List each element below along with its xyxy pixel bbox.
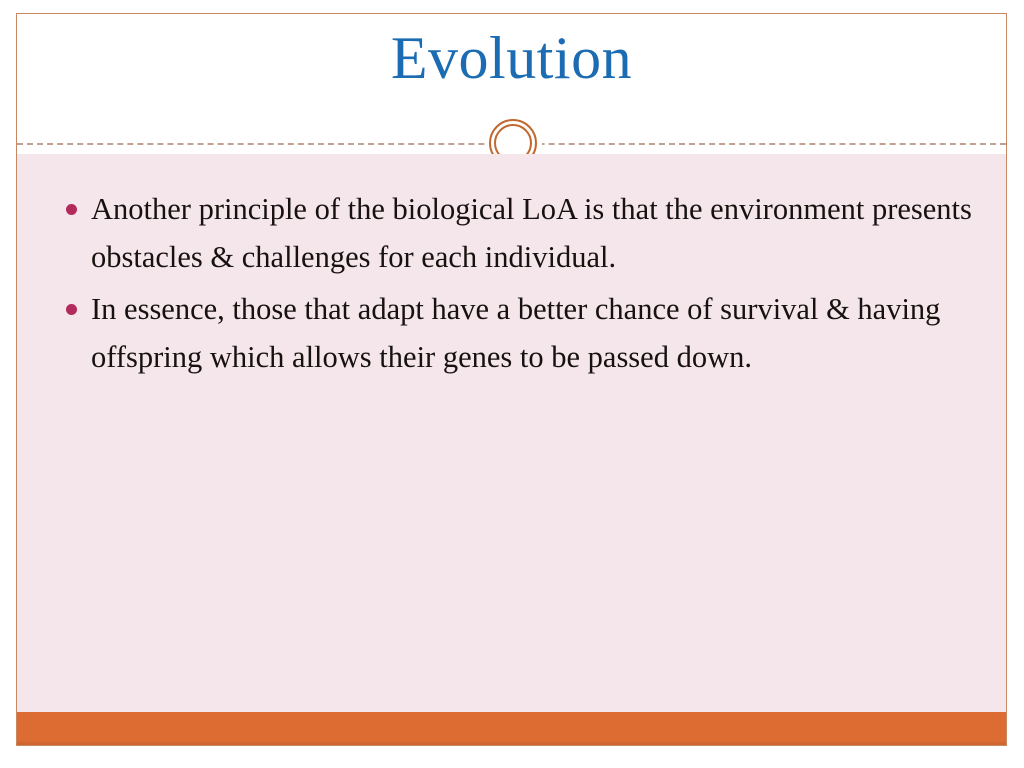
list-item-text: Another principle of the biological LoA … bbox=[91, 185, 974, 281]
page-title: Evolution bbox=[17, 26, 1006, 91]
footer-accent-band bbox=[17, 712, 1006, 745]
list-item: In essence, those that adapt have a bett… bbox=[32, 285, 974, 381]
slide-frame: Evolution Another principle of the biolo… bbox=[16, 13, 1007, 746]
bullet-list: Another principle of the biological LoA … bbox=[32, 185, 974, 385]
bullet-dot-icon bbox=[66, 304, 77, 315]
bullet-dot-icon bbox=[66, 204, 77, 215]
list-item: Another principle of the biological LoA … bbox=[32, 185, 974, 281]
presentation-slide: Evolution Another principle of the biolo… bbox=[0, 0, 1024, 768]
slide-content-area: Another principle of the biological LoA … bbox=[17, 154, 1006, 712]
list-item-text: In essence, those that adapt have a bett… bbox=[91, 285, 974, 381]
